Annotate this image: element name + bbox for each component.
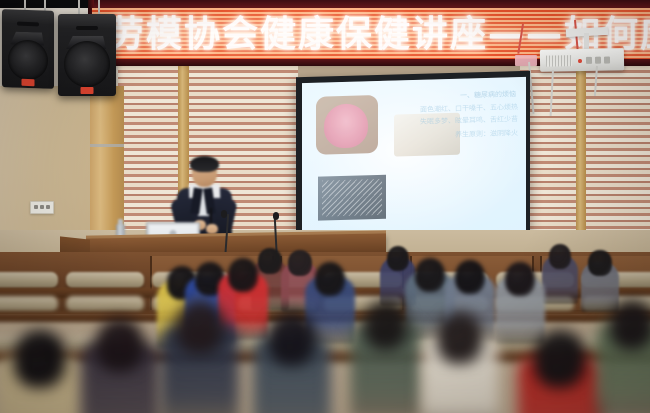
wall-outlet-icon xyxy=(30,201,54,214)
audience-member-head xyxy=(258,248,281,274)
audience-member-head xyxy=(415,258,445,292)
wood-trim-right xyxy=(576,66,586,256)
audience-member-head xyxy=(364,300,409,350)
slide-bullet-3: 养生原则：滋阴降火 xyxy=(455,129,518,140)
audience-member-head xyxy=(228,258,258,292)
ceiling-projector xyxy=(540,48,624,71)
projection-screen: 一、糖尿病的烦恼 面色潮红、口干嗓干、五心烦热 失眠多梦、眩晕耳鸣、舌红少苔 养… xyxy=(302,77,526,239)
audience-member-head xyxy=(549,244,571,269)
microphone-head-1 xyxy=(221,210,227,218)
audience-member-head xyxy=(387,246,409,271)
microphone-head-2 xyxy=(273,212,279,220)
audience-member-head xyxy=(610,300,650,350)
audience-member-head xyxy=(268,312,316,366)
speaker-slot-icon xyxy=(76,26,98,30)
jbl-logo xyxy=(22,79,35,86)
audience-member-head xyxy=(588,250,611,276)
projector-port-1 xyxy=(586,57,592,64)
bench-seat xyxy=(66,296,144,312)
audience-member-head xyxy=(288,250,311,276)
audience-member-head xyxy=(437,312,483,364)
audience-member-head xyxy=(315,262,345,296)
projector-status-led-icon xyxy=(578,59,582,63)
slide-tongue-image xyxy=(316,95,378,155)
audience-member-head xyxy=(455,260,485,294)
lecture-hall-photo: 劳模协会健康保健讲座——如何应对 一、糖尿病的烦恼 面色潮红、口干嗓干、五心烦热… xyxy=(0,0,650,413)
audience-member-head xyxy=(14,330,65,388)
audience-member-head xyxy=(176,300,224,354)
audience-member-head xyxy=(534,330,585,388)
audience-member-head xyxy=(96,318,144,372)
wall-junction-box xyxy=(515,55,537,66)
bench-seat xyxy=(0,272,58,288)
presenter-hair xyxy=(190,156,219,172)
audience-member-head xyxy=(505,262,535,296)
jbl-logo xyxy=(81,87,94,94)
wall-speaker-right xyxy=(58,14,116,96)
speaker-woofer-icon xyxy=(8,39,48,80)
projector-port-3 xyxy=(604,57,610,64)
projector-port-2 xyxy=(595,57,601,64)
wall-speaker-left xyxy=(2,9,54,89)
slide-dark-image xyxy=(318,175,386,221)
speaker-slot-icon xyxy=(17,22,39,27)
slide-logo-graphic xyxy=(434,193,510,221)
bench-seat xyxy=(66,272,144,288)
projector-vent-icon xyxy=(546,55,572,66)
speaker-woofer-icon xyxy=(64,41,110,87)
bench-seat xyxy=(0,296,58,312)
tongue-shape xyxy=(324,103,368,148)
